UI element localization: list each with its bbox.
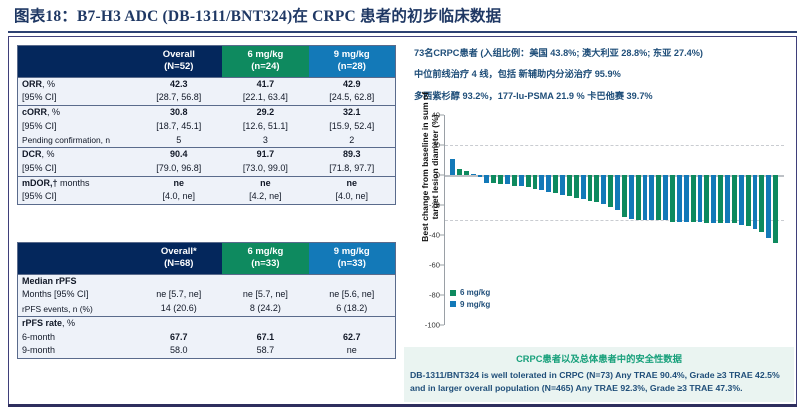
page-title: 图表18：B7-H3 ADC (DB-1311/BNT324)在 CRPC 患者… (14, 4, 805, 26)
table-header-row: Overall (N=52) 6 mg/kg (n=24) 9 mg/kg (n… (18, 46, 396, 78)
table-header-row: Overall* (N=68) 6 mg/kg (n=33) 9 mg/kg (… (18, 243, 396, 275)
table-row: [95% CI] [79.0, 96.8] [73.0, 99.0] [71.8… (18, 162, 396, 176)
waterfall-bar (526, 175, 531, 187)
cell-value: ne (309, 176, 396, 190)
waterfall-bar (574, 175, 579, 198)
legend-label-6mgkg: 6 mg/kg (460, 287, 490, 299)
header-label: 6 mg/kg (247, 246, 283, 257)
row-label-key: rPFS rate (22, 318, 62, 328)
waterfall-bar (491, 175, 496, 183)
cell-value: 42.3 (136, 77, 223, 91)
row-label: [95% CI] (18, 120, 136, 134)
efficacy-table: Overall (N=52) 6 mg/kg (n=24) 9 mg/kg (n… (17, 45, 396, 205)
waterfall-bar (622, 175, 627, 217)
table-row: [95% CI] [4.0, ne] [4.2, ne] [4.0, ne] (18, 190, 396, 204)
content-frame: Overall (N=52) 6 mg/kg (n=24) 9 mg/kg (n… (8, 36, 797, 406)
waterfall-bar (560, 175, 565, 195)
table-row: Median rPFS (18, 274, 396, 288)
header-sub: (n=28) (311, 61, 393, 73)
header-cell-6mgkg: 6 mg/kg (n=24) (222, 46, 309, 78)
bullet-enrollment: 73名CRPC患者 (入组比例：美国 43.8%; 澳大利亚 28.8%; 东亚… (414, 47, 794, 59)
cell-value: ne (136, 176, 223, 190)
cell-value (222, 274, 309, 288)
title-divider (8, 31, 797, 33)
row-label: [95% CI] (18, 190, 136, 204)
cell-value: 6 (18.2) (309, 302, 396, 316)
cell-value: 67.7 (136, 331, 223, 345)
table-row: Months [95% CI] ne [5.7, ne] ne [5.7, ne… (18, 288, 396, 302)
cell-value: ne [5.7, ne] (222, 288, 309, 302)
header-label: 9 mg/kg (334, 246, 370, 257)
waterfall-bar (739, 175, 744, 225)
table-row: ORR, % 42.3 41.7 42.9 (18, 77, 396, 91)
waterfall-bar (608, 175, 613, 207)
cell-value (309, 274, 396, 288)
cell-value: [71.8, 97.7] (309, 162, 396, 176)
table-row: [95% CI] [18.7, 45.1] [12.6, 51.1] [15.9… (18, 120, 396, 134)
row-label: ORR, % (18, 77, 136, 91)
table-row: mDOR,† months ne ne ne (18, 176, 396, 190)
table-row: rPFS events, n (%) 14 (20.6) 8 (24.2) 6 … (18, 302, 396, 316)
waterfall-bar (464, 171, 469, 176)
waterfall-bar (581, 175, 586, 199)
header-label: Overall* (161, 246, 197, 257)
cell-value: 5 (136, 134, 223, 148)
plot-region: 40200-20-40-60-80-100 (444, 115, 784, 325)
waterfall-bar (656, 175, 661, 220)
cell-value: 2 (309, 134, 396, 148)
cell-value: 89.3 (309, 148, 396, 162)
cell-value: ne [5.7, ne] (136, 288, 223, 302)
header-cell-9mgkg: 9 mg/kg (n=28) (309, 46, 396, 78)
cell-value: 58.7 (222, 344, 309, 358)
waterfall-bar (759, 175, 764, 232)
cell-value: 3 (222, 134, 309, 148)
waterfall-bar (684, 175, 689, 222)
cell-value: [15.9, 52.4] (309, 120, 396, 134)
header-label: 9 mg/kg (334, 49, 370, 60)
row-label-rest: , % (42, 149, 55, 159)
cell-value: [12.6, 51.1] (222, 120, 309, 134)
y-tick-mark (440, 325, 444, 326)
header-cell-blank (18, 243, 136, 275)
waterfall-bar (649, 175, 654, 220)
waterfall-bar (718, 175, 723, 223)
row-label: rPFS rate, % (18, 316, 136, 330)
row-label-rest: , % (42, 79, 55, 89)
y-tick-mark (440, 295, 444, 296)
header-cell-overall: Overall (N=52) (136, 46, 223, 78)
cell-value: [73.0, 99.0] (222, 162, 309, 176)
bullet-prior-lines: 中位前线治疗 4 线，包括 新辅助内分泌治疗 95.9% (414, 68, 794, 80)
cell-value (309, 316, 396, 330)
waterfall-bar (553, 175, 558, 193)
legend-swatch-6mgkg (450, 290, 456, 296)
header-sub: (N=68) (138, 258, 221, 270)
waterfall-bar (773, 175, 778, 243)
waterfall-bar (594, 175, 599, 202)
safety-line-crpc: DB-1311/BNT324 is well tolerated in CRPC… (410, 369, 788, 382)
row-label-key: mDOR,† (22, 178, 58, 188)
waterfall-bar (498, 175, 503, 184)
cell-value: 30.8 (136, 106, 223, 120)
row-label: Months [95% CI] (18, 288, 136, 302)
chart-legend: 6 mg/kg 9 mg/kg (450, 287, 490, 310)
y-tick-label: -100 (425, 321, 440, 330)
bottom-rule (8, 404, 797, 407)
table-row: rPFS rate, % (18, 316, 396, 330)
row-label: 9-month (18, 344, 136, 358)
header-sub: (N=52) (138, 61, 221, 73)
waterfall-bar (601, 175, 606, 204)
cell-value: 67.1 (222, 331, 309, 345)
cell-value: [79.0, 96.8] (136, 162, 223, 176)
waterfall-bar (670, 175, 675, 222)
header-cell-9mgkg: 9 mg/kg (n=33) (309, 243, 396, 275)
waterfall-bar (533, 175, 538, 189)
waterfall-bar (588, 175, 593, 201)
waterfall-bar (711, 175, 716, 223)
legend-swatch-9mgkg (450, 301, 456, 307)
row-label: DCR, % (18, 148, 136, 162)
table-row: [95% CI] [28.7, 56.8] [22.1, 63.4] [24.5… (18, 91, 396, 105)
waterfall-bar (725, 175, 730, 223)
waterfall-bar (546, 175, 551, 192)
waterfall-bar (643, 175, 648, 220)
legend-item-9mgkg: 9 mg/kg (450, 299, 490, 311)
table-row: DCR, % 90.4 91.7 89.3 (18, 148, 396, 162)
y-tick-mark (440, 115, 444, 116)
waterfall-bar (753, 175, 758, 229)
waterfall-bar (698, 175, 703, 222)
row-label: rPFS events, n (%) (18, 302, 136, 316)
bar-group (450, 115, 780, 325)
table-row: Pending confirmation, n 5 3 2 (18, 134, 396, 148)
waterfall-bar (704, 175, 709, 223)
header-sub: (n=33) (224, 258, 307, 270)
row-label-rest: , % (47, 107, 60, 117)
y-tick-mark (440, 265, 444, 266)
header-sub: (n=24) (224, 61, 307, 73)
row-label-key: cORR (22, 107, 47, 117)
header-label: 6 mg/kg (247, 49, 283, 60)
waterfall-bar (615, 175, 620, 210)
y-tick-label: 20 (432, 141, 440, 150)
cell-value: [28.7, 56.8] (136, 91, 223, 105)
cell-value: [22.1, 63.4] (222, 91, 309, 105)
legend-label-9mgkg: 9 mg/kg (460, 299, 490, 311)
waterfall-bar (457, 169, 462, 175)
table-row: 9-month 58.0 58.7 ne (18, 344, 396, 358)
header-cell-blank (18, 46, 136, 78)
row-label-key: DCR (22, 149, 42, 159)
waterfall-bar (636, 175, 641, 220)
waterfall-bar (746, 175, 751, 226)
row-label: 6-month (18, 331, 136, 345)
row-label-rest: , % (62, 318, 75, 328)
waterfall-chart: Best change from baseline in sum of targ… (404, 109, 799, 344)
waterfall-bar (567, 175, 572, 196)
cell-value: [24.5, 62.8] (309, 91, 396, 105)
y-tick-label: -80 (429, 291, 440, 300)
row-label-key: ORR (22, 79, 42, 89)
y-tick-mark (440, 175, 444, 176)
header-sub: (n=33) (311, 258, 393, 270)
cell-value: [4.0, ne] (136, 190, 223, 204)
waterfall-bar (539, 175, 544, 190)
header-label: Overall (163, 49, 195, 60)
header-cell-6mgkg: 6 mg/kg (n=33) (222, 243, 309, 275)
cell-value: [18.7, 45.1] (136, 120, 223, 134)
waterfall-bar (677, 175, 682, 222)
row-label: cORR, % (18, 106, 136, 120)
slide-page: 图表18：B7-H3 ADC (DB-1311/BNT324)在 CRPC 患者… (0, 0, 805, 416)
safety-box-title: CRPC患者以及总体患者中的安全性数据 (410, 351, 788, 365)
cell-value: ne (222, 176, 309, 190)
waterfall-bar (629, 175, 634, 219)
cell-value: 14 (20.6) (136, 302, 223, 316)
cell-value (136, 274, 223, 288)
cell-value: 32.1 (309, 106, 396, 120)
rpfs-table: Overall* (N=68) 6 mg/kg (n=33) 9 mg/kg (… (17, 242, 396, 359)
waterfall-bar (766, 175, 771, 238)
waterfall-bar (663, 175, 668, 220)
cell-value: [4.0, ne] (309, 190, 396, 204)
row-label: [95% CI] (18, 162, 136, 176)
waterfall-bar (512, 175, 517, 186)
cell-value: 41.7 (222, 77, 309, 91)
waterfall-bar (505, 175, 510, 184)
waterfall-bar (519, 175, 524, 186)
cell-value: 58.0 (136, 344, 223, 358)
table-row: cORR, % 30.8 29.2 32.1 (18, 106, 396, 120)
cell-value: 90.4 (136, 148, 223, 162)
waterfall-bar (450, 159, 455, 176)
cell-value: 42.9 (309, 77, 396, 91)
cell-value: [4.2, ne] (222, 190, 309, 204)
cell-value (136, 316, 223, 330)
row-label: mDOR,† months (18, 176, 136, 190)
row-label: [95% CI] (18, 91, 136, 105)
safety-line-overall: and in larger overall population (N=465)… (410, 382, 788, 395)
waterfall-bar (478, 175, 483, 177)
title-bar: 图表18：B7-H3 ADC (DB-1311/BNT324)在 CRPC 患者… (0, 0, 805, 33)
cell-value: 91.7 (222, 148, 309, 162)
bullet-prior-therapies: 多西紫杉醇 93.2%，177-lu-PSMA 21.9 % 卡巴他赛 39.7… (414, 90, 794, 102)
cell-value: ne (309, 344, 396, 358)
safety-data-box: CRPC患者以及总体患者中的安全性数据 DB-1311/BNT324 is we… (404, 347, 794, 402)
waterfall-bar (732, 175, 737, 223)
table-row: 6-month 67.7 67.1 62.7 (18, 331, 396, 345)
cell-value: 29.2 (222, 106, 309, 120)
cell-value (222, 316, 309, 330)
row-label: Pending confirmation, n (18, 134, 136, 148)
y-tick-label: -40 (429, 231, 440, 240)
y-tick-label: 40 (432, 111, 440, 120)
cell-value: ne [5.6, ne] (309, 288, 396, 302)
y-tick-mark (440, 145, 444, 146)
waterfall-bar (691, 175, 696, 222)
cell-value: 62.7 (309, 331, 396, 345)
row-label-rest: months (58, 178, 90, 188)
row-label: Median rPFS (18, 274, 136, 288)
y-tick-label: -60 (429, 261, 440, 270)
cell-value: 8 (24.2) (222, 302, 309, 316)
legend-item-6mgkg: 6 mg/kg (450, 287, 490, 299)
y-tick-label: -20 (429, 201, 440, 210)
waterfall-bar (484, 175, 489, 183)
waterfall-bar (471, 174, 476, 176)
header-cell-overall: Overall* (N=68) (136, 243, 223, 275)
y-tick-mark (440, 205, 444, 206)
y-tick-mark (440, 235, 444, 236)
